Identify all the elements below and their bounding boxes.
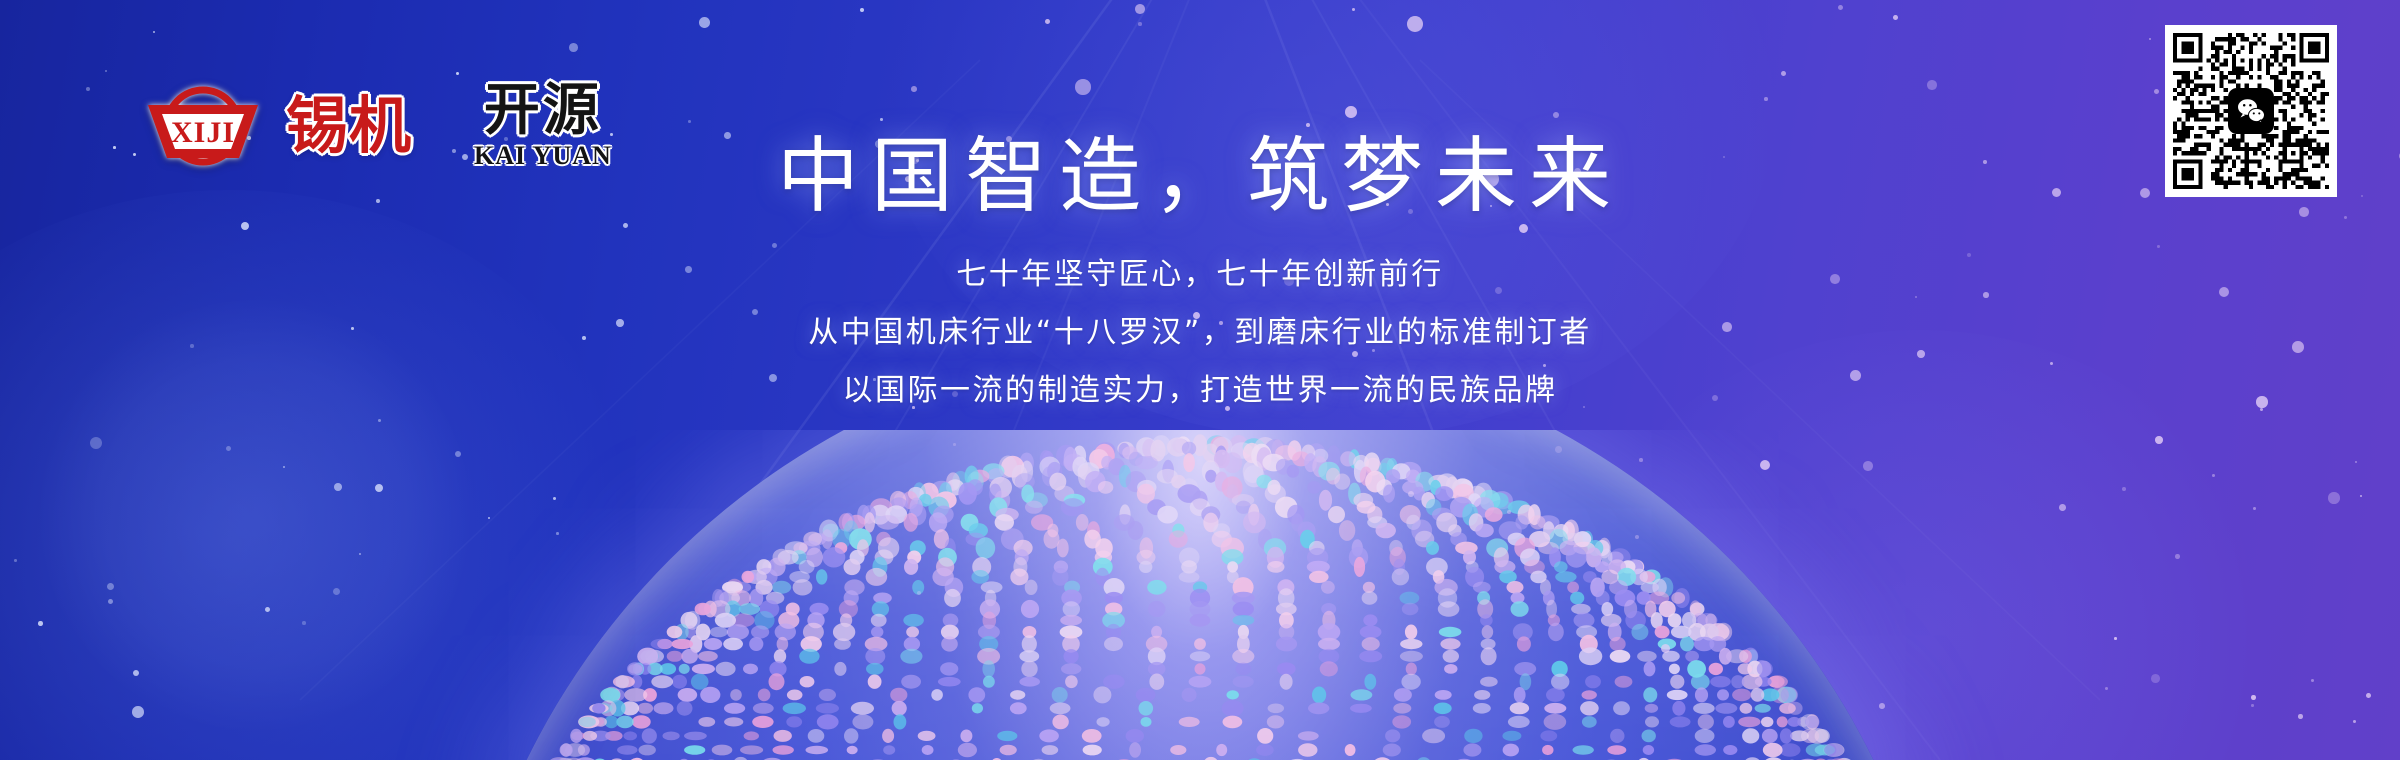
wechat-icon bbox=[2228, 88, 2274, 134]
subline-3: 以国际一流的制造实力，打造世界一流的民族品牌 bbox=[0, 376, 2400, 406]
globe-dot-matrix bbox=[450, 430, 1950, 760]
banner-copy: 中国智造，筑梦未来 七十年坚守匠心，七十年创新前行 从中国机床行业“十八罗汉”，… bbox=[0, 132, 2400, 406]
subline-list: 七十年坚守匠心，七十年创新前行 从中国机床行业“十八罗汉”，到磨床行业的标准制订… bbox=[0, 260, 2400, 406]
kaiyuan-name-cn: 开源 bbox=[484, 83, 602, 139]
subline-2: 从中国机床行业“十八罗汉”，到磨床行业的标准制订者 bbox=[0, 318, 2400, 348]
subline-1: 七十年坚守匠心，七十年创新前行 bbox=[0, 260, 2400, 290]
promo-banner: XIJI 锡机 开源 KAI YUAN 中国智造，筑梦未来 七十年坚守匠心，七十… bbox=[0, 0, 2400, 760]
wechat-qr-code[interactable] bbox=[2165, 25, 2337, 197]
globe-sphere bbox=[450, 430, 1950, 760]
headline: 中国智造，筑梦未来 bbox=[0, 132, 2400, 222]
dotted-globe bbox=[0, 430, 2400, 760]
